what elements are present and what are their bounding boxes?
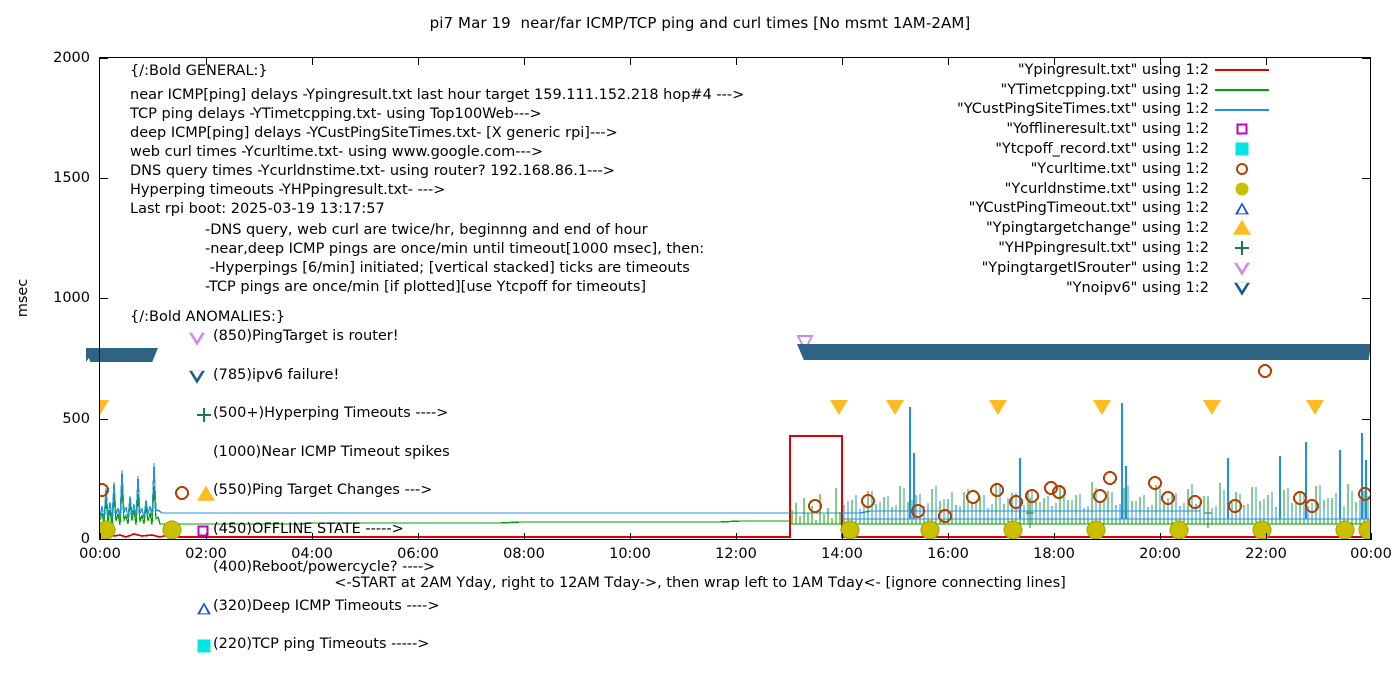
- general-line-3: web curl times -Ycurltime.txt- using www…: [130, 143, 543, 163]
- legend-entry-ynoipv6[interactable]: "Ynoipv6" using 1:2: [975, 278, 1275, 298]
- page-title: pi7 Mar 19 near/far ICMP/TCP ping and cu…: [0, 14, 1400, 32]
- legend-key-plus: [1209, 238, 1275, 258]
- legend-entry-ycustpingsitetimes[interactable]: "YCustPingSiteTimes.txt" using 1:2: [975, 100, 1275, 120]
- y-tick-label-0: 0: [18, 531, 90, 547]
- anomaly-label: (500+)Hyperping Timeouts ---->: [213, 405, 448, 421]
- general-line-4: DNS query times -Ycurldnstime.txt- using…: [130, 162, 615, 182]
- anomaly-row-0: (850)PingTarget is router!: [197, 328, 517, 348]
- legend-entry-ypingtargetchange[interactable]: "Ypingtargetchange" using 1:2: [975, 218, 1275, 238]
- general-line-1: TCP ping delays -YTimetcpping.txt- using…: [130, 105, 542, 125]
- x-tick-label-10: 20:00: [1115, 546, 1205, 562]
- legend-label: "Ynoipv6" using 1:2: [1066, 280, 1209, 296]
- legend: "Ypingresult.txt" using 1:2 "YTimetcppin…: [975, 60, 1275, 298]
- legend-key-circle-filled: [1209, 179, 1275, 199]
- anomaly-row-5: (450)OFFLINE STATE ----->: [197, 521, 527, 541]
- anomaly-row-3: (1000)Near ICMP Timeout spikes: [197, 444, 527, 464]
- square-open-magenta-icon: [197, 530, 208, 546]
- general-line-0: near ICMP[ping] delays -Ypingresult.txt …: [130, 86, 744, 106]
- legend-label: "Ycurldnstime.txt" using 1:2: [1005, 181, 1209, 197]
- legend-key-line-blue: [1209, 100, 1275, 120]
- anomaly-row-7: (320)Deep ICMP Timeouts ---->: [197, 598, 527, 618]
- legend-label: "YCustPingTimeout.txt" using 1:2: [969, 200, 1209, 216]
- legend-entry-ytimetcpping[interactable]: "YTimetcpping.txt" using 1:2: [975, 80, 1275, 100]
- x-tick-label-6: 12:00: [691, 546, 781, 562]
- y-tick-label-2000: 2000: [18, 50, 90, 66]
- legend-entry-yofflineresult[interactable]: "Yofflineresult.txt" using 1:2: [975, 119, 1275, 139]
- legend-key-circle-open: [1209, 159, 1275, 179]
- legend-entry-ycustpingtimeout[interactable]: "YCustPingTimeout.txt" using 1:2: [975, 199, 1275, 219]
- anomaly-row-1: (785)ipv6 failure!: [197, 367, 517, 387]
- legend-label: "Ypingtargetchange" using 1:2: [986, 220, 1209, 236]
- legend-entry-ypingtargetisrouter[interactable]: "YpingtargetISrouter" using 1:2: [975, 258, 1275, 278]
- legend-key-dtriangle-violet: [1209, 258, 1275, 278]
- x-tick-label-8: 16:00: [903, 546, 993, 562]
- legend-label: "Ypingresult.txt" using 1:2: [1018, 62, 1209, 78]
- anomaly-label: (1000)Near ICMP Timeout spikes: [213, 444, 450, 460]
- anomaly-label: (550)Ping Target Changes --->: [213, 482, 432, 498]
- legend-key-line-green: [1209, 80, 1275, 100]
- y-tick-label-1000: 1000: [18, 290, 90, 306]
- general-line-6: Last rpi boot: 2025-03-19 13:17:57: [130, 200, 385, 220]
- square-filled-cyan-icon: [197, 646, 210, 663]
- anomaly-row-8: (220)TCP ping Timeouts ----->: [197, 636, 527, 656]
- anomaly-row-4: (550)Ping Target Changes --->: [197, 482, 527, 502]
- down-triangle-violet-icon: [197, 338, 213, 355]
- anomaly-label: (400)Reboot/powercycle? ---->: [213, 559, 435, 575]
- legend-entry-ycurldnstime[interactable]: "Ycurldnstime.txt" using 1:2: [975, 179, 1275, 199]
- x-tick-label-11: 22:00: [1221, 546, 1311, 562]
- legend-entry-ypingresult[interactable]: "Ypingresult.txt" using 1:2: [975, 60, 1275, 80]
- general-note-1: -near,deep ICMP pings are once/min until…: [205, 240, 704, 260]
- x-tick-label-0: 00:00: [55, 546, 145, 562]
- general-note-2: -Hyperpings [6/min] initiated; [vertical…: [205, 259, 690, 279]
- legend-key-triangle-open: [1209, 199, 1275, 219]
- legend-key-line-red: [1209, 60, 1275, 80]
- x-tick-mark: [1371, 533, 1372, 540]
- y-tick-label-1500: 1500: [18, 170, 90, 186]
- anomaly-row-2: (500+)Hyperping Timeouts ---->: [197, 405, 527, 425]
- y-tick-label-500: 500: [18, 411, 90, 427]
- x-tick-label-9: 18:00: [1009, 546, 1099, 562]
- general-line-5: Hyperping timeouts -YHPpingresult.txt- -…: [130, 181, 445, 201]
- down-triangle-navy-icon: [197, 376, 213, 393]
- legend-label: "YCustPingSiteTimes.txt" using 1:2: [957, 101, 1209, 117]
- x-tick-label-7: 14:00: [797, 546, 887, 562]
- general-line-2: deep ICMP[ping] delays -YCustPingSiteTim…: [130, 124, 618, 144]
- legend-key-dtriangle-navy: [1209, 278, 1275, 298]
- legend-label: "Yofflineresult.txt" using 1:2: [1006, 121, 1209, 137]
- general-note-3: -TCP pings are once/min [if plotted][use…: [205, 278, 646, 298]
- legend-label: "YpingtargetISrouter" using 1:2: [982, 260, 1209, 276]
- anomalies-heading: {/:Bold ANOMALIES:}: [130, 308, 285, 328]
- legend-label: "Ycurltime.txt" using 1:2: [1031, 161, 1209, 177]
- anomaly-row-6: (400)Reboot/powercycle? ---->: [197, 559, 527, 579]
- triangle-open-blue-icon: [197, 607, 211, 623]
- legend-label: "YHPpingresult.txt" using 1:2: [998, 240, 1209, 256]
- legend-key-square-filled: [1209, 139, 1275, 159]
- plus-green-icon: [197, 415, 211, 433]
- legend-entry-ytcpoff-record[interactable]: "Ytcpoff_record.txt" using 1:2: [975, 139, 1275, 159]
- x-tick-label-12: 00:00: [1326, 546, 1400, 562]
- legend-label: "YTimetcpping.txt" using 1:2: [1001, 82, 1209, 98]
- general-note-0: -DNS query, web curl are twice/hr, begin…: [205, 221, 648, 241]
- legend-key-square-open: [1209, 119, 1275, 139]
- x-tick-label-5: 10:00: [585, 546, 675, 562]
- legend-label: "Ytcpoff_record.txt" using 1:2: [995, 141, 1209, 157]
- legend-entry-ycurltime[interactable]: "Ycurltime.txt" using 1:2: [975, 159, 1275, 179]
- anomaly-label: (785)ipv6 failure!: [213, 367, 339, 383]
- legend-key-triangle-filled: [1209, 218, 1275, 238]
- anomaly-label: (220)TCP ping Timeouts ----->: [213, 636, 429, 652]
- anomaly-label: (450)OFFLINE STATE ----->: [213, 521, 404, 537]
- legend-entry-yhppingresult[interactable]: "YHPpingresult.txt" using 1:2: [975, 238, 1275, 258]
- anomaly-label: (850)PingTarget is router!: [213, 328, 399, 344]
- general-heading: {/:Bold GENERAL:}: [130, 62, 268, 82]
